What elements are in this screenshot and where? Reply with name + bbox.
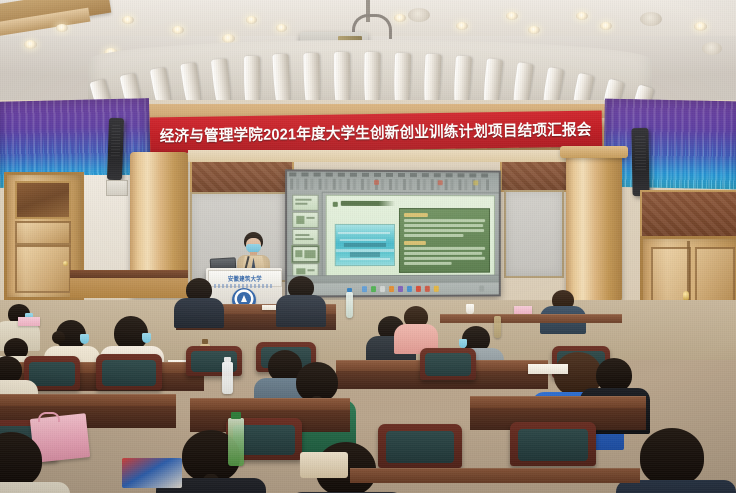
chair-cushion [29, 362, 75, 386]
slide-thumbnail[interactable] [292, 195, 318, 211]
curtain-pattern [603, 132, 736, 189]
chair [420, 348, 476, 380]
wall-column-capital-right [560, 146, 628, 158]
chair [186, 346, 242, 376]
event-banner-text: 经济与管理学院2021年度大学生创新创业训练计划项目结项汇报会 [160, 118, 592, 147]
name-card [18, 317, 40, 326]
slide-thumbnail[interactable] [292, 229, 318, 245]
door-glass-panel [15, 181, 71, 219]
ribbon-accent-icon [473, 180, 478, 185]
active-slide[interactable] [326, 195, 495, 284]
taskbar-app-icon[interactable] [389, 286, 394, 292]
table-row [440, 314, 622, 323]
bottle-cap [347, 288, 352, 292]
face-mask [80, 334, 89, 344]
door-knob-icon[interactable] [63, 261, 68, 266]
door-panel [15, 221, 71, 245]
chair [378, 424, 462, 468]
ribbon-icon-row[interactable] [290, 178, 491, 190]
chair-cushion [386, 431, 454, 463]
wall-decor-panel-center-right [500, 160, 568, 192]
bottle-cap [224, 357, 231, 362]
ceiling-downlight [122, 16, 134, 24]
ceiling-downlight [576, 12, 588, 20]
ceiling-downlight [408, 8, 430, 22]
event-banner: 经济与管理学院2021年度大学生创新创业训练计划项目结项汇报会 [150, 110, 603, 153]
ceiling-downlight [600, 22, 612, 30]
taskbar-app-icon[interactable] [425, 286, 430, 292]
speaker-bracket-left [106, 180, 128, 196]
snack-package [300, 452, 348, 478]
chair [510, 422, 596, 466]
ceiling-downlight [456, 22, 468, 30]
slide-thumbnail[interactable] [292, 212, 318, 228]
ceiling-downlight [702, 42, 722, 55]
ceiling-downlight [640, 12, 662, 26]
taskbar-app-icon[interactable] [407, 286, 412, 292]
attendee-body [276, 295, 326, 327]
colorful-package [122, 458, 182, 488]
attendee-body [174, 298, 224, 328]
system-tray-icon[interactable] [479, 286, 484, 292]
slide-title-bullet-icon [333, 202, 338, 207]
document [528, 364, 568, 374]
slide-image [335, 224, 395, 266]
ceiling-downlight [394, 14, 406, 22]
document [262, 305, 276, 310]
slide-thumbnail-rail[interactable] [287, 192, 323, 288]
slide-title-text [341, 201, 395, 206]
os-taskbar[interactable] [287, 282, 499, 296]
water-bottle [222, 362, 233, 394]
attendee-head [640, 428, 704, 486]
chair-cushion [102, 360, 156, 386]
projection-screen-frame [285, 169, 501, 297]
audience-area [0, 300, 736, 493]
chair-cushion [425, 353, 471, 376]
chair-cushion [518, 429, 588, 461]
taskbar-app-icon[interactable] [398, 286, 403, 292]
ceiling-downlight [528, 26, 540, 34]
taskbar-app-icon[interactable] [362, 286, 367, 292]
wall-column-right [566, 150, 622, 302]
water-bottle [494, 316, 501, 338]
taskbar-app-icon[interactable] [380, 286, 385, 292]
bag-handle [38, 412, 60, 422]
ceiling-downlight [694, 22, 707, 31]
table-row [350, 468, 640, 483]
lecture-hall-photo: 经济与管理学院2021年度大学生创新创业训练计划项目结项汇报会 [0, 0, 736, 493]
projection-screen[interactable] [287, 171, 499, 295]
ceiling-downlight [506, 12, 518, 20]
attendee-body [0, 482, 70, 493]
speaker-right [631, 128, 649, 196]
presentation-ribbon[interactable] [287, 171, 499, 193]
bottle-cap [202, 339, 208, 344]
face-mask [459, 339, 467, 348]
taskbar-app-icon[interactable] [434, 286, 439, 292]
water-bottle [346, 292, 353, 318]
attendee-hair-bun [52, 331, 65, 344]
ribbon-accent-icon [438, 180, 443, 185]
taskbar-app-icon[interactable] [416, 286, 421, 292]
slide-thumbnail-selected[interactable] [292, 246, 318, 262]
chair [96, 354, 162, 390]
speaker-left [107, 118, 124, 180]
ribbon-accent-icon [374, 180, 379, 185]
taskbar-app-icon[interactable] [371, 286, 376, 292]
wall-trim-center [188, 150, 566, 162]
wall-decor-panel-right [640, 190, 736, 238]
water-bottle [228, 418, 244, 466]
wall-decor-panel-center-left [190, 160, 294, 194]
ceiling-downlight [24, 40, 37, 49]
ceiling-downlight [246, 16, 257, 24]
ceiling-downlight [172, 26, 184, 34]
slide-text-box [399, 208, 490, 273]
podium-name-text: 安徽建筑大学 [228, 274, 262, 283]
attendee-head [596, 358, 632, 392]
whiteboard-right [504, 190, 564, 278]
wainscot-trim-left [70, 270, 188, 278]
paper-cup [466, 304, 474, 314]
ribbon-tab-row[interactable] [289, 172, 492, 177]
bottle-cap [231, 412, 241, 419]
ceiling-downlight [276, 24, 287, 32]
door-panel [15, 245, 71, 293]
curtain-right [603, 99, 736, 190]
ceiling-downlight [56, 24, 68, 32]
face-mask [142, 333, 151, 343]
